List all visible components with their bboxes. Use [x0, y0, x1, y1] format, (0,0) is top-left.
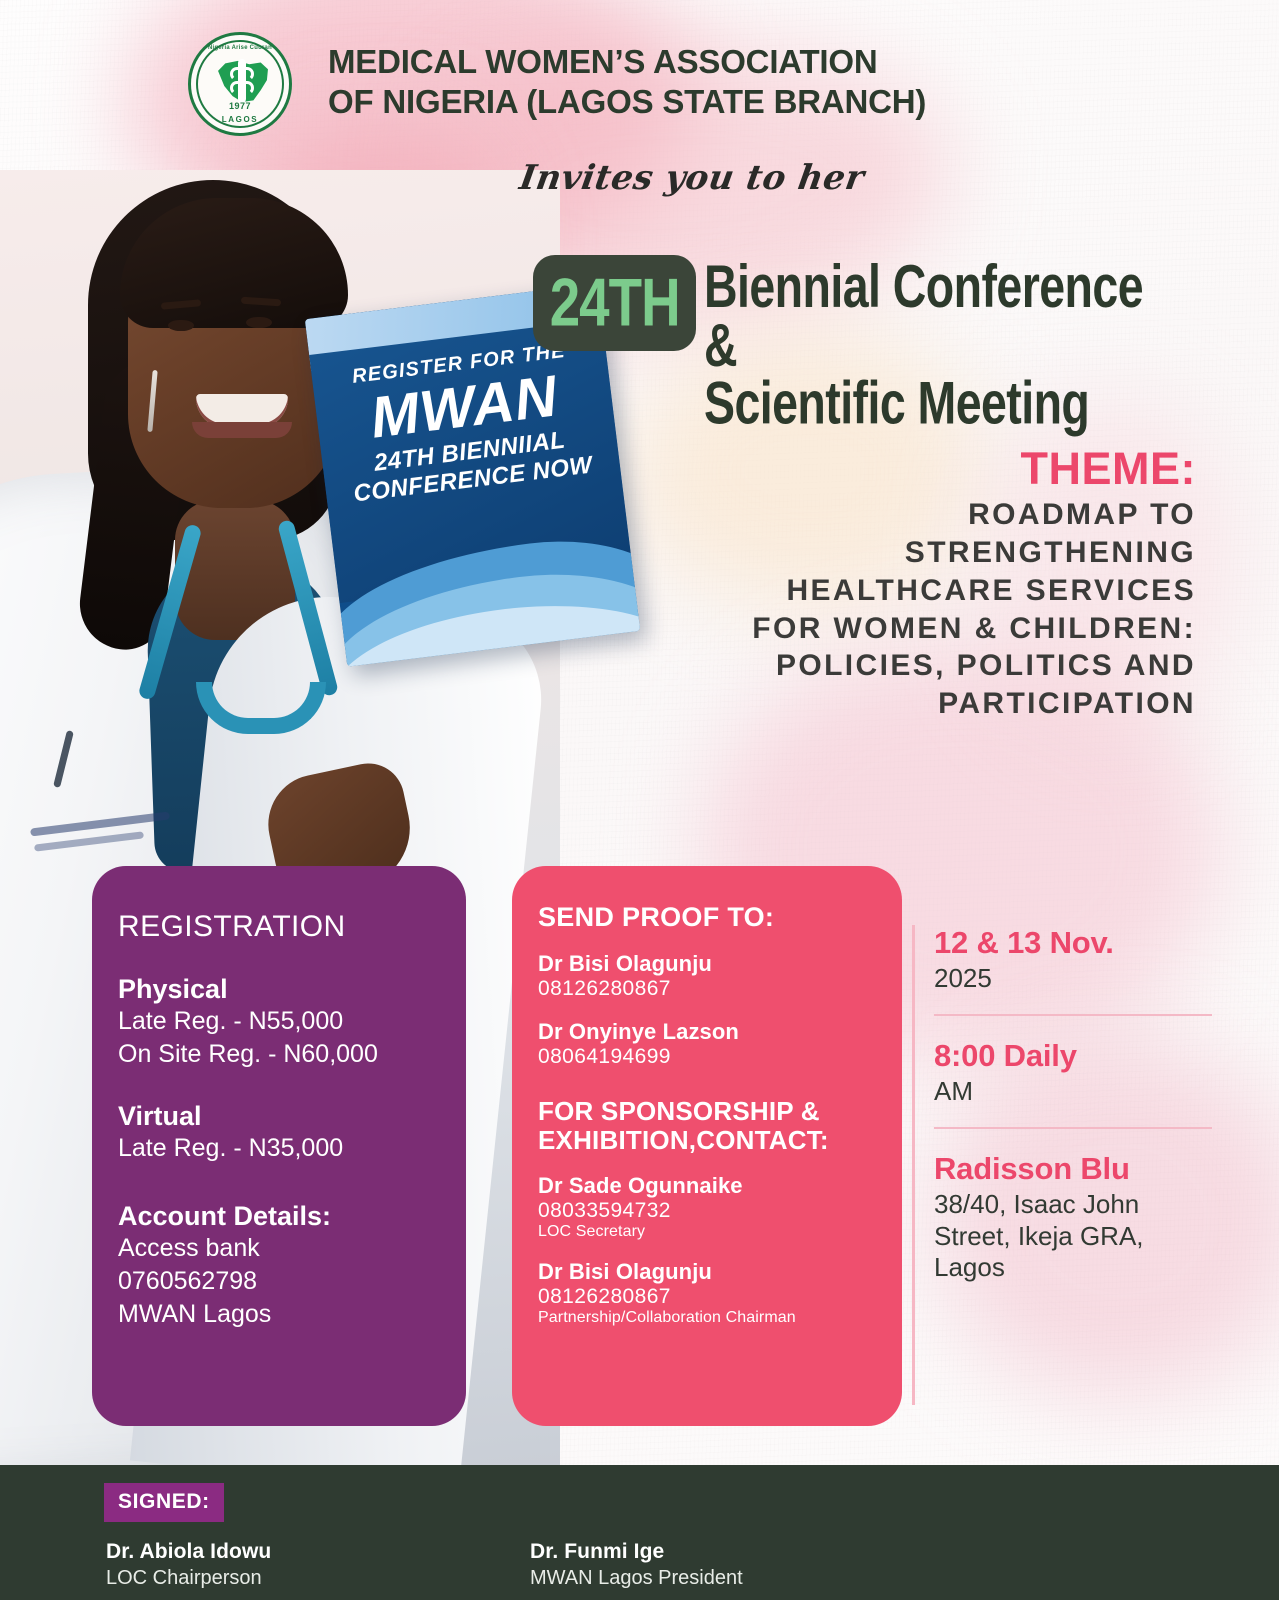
event-date: 12 & 13 Nov. 2025: [912, 925, 1212, 994]
registration-physical-late: Late Reg. - N55,000: [118, 1005, 466, 1038]
sponsorship-heading-line-2: EXHIBITION,CONTACT:: [538, 1126, 902, 1155]
contact-role: Partnership/Collaboration Chairman: [538, 1309, 902, 1327]
contact-name: Dr Bisi Olagunju: [538, 1259, 902, 1285]
divider: [934, 1127, 1212, 1129]
theme-line: STRENGTHENING: [640, 534, 1196, 572]
event-date-year: 2025: [934, 963, 1212, 994]
contact-phone[interactable]: 08064194699: [538, 1045, 902, 1069]
contact-phone[interactable]: 08033594732: [538, 1199, 902, 1223]
event-time-title: 8:00 Daily: [934, 1038, 1212, 1074]
account-name: MWAN Lagos: [118, 1298, 466, 1331]
event-venue-title: Radisson Blu: [934, 1151, 1212, 1187]
lower-lip: [192, 422, 292, 438]
organization-title-line-1: MEDICAL WOMEN’S ASSOCIATION: [328, 42, 1028, 82]
invite-line: Invites you to her: [517, 158, 867, 198]
signatory: Dr. Funmi Ige MWAN Lagos President: [530, 1540, 743, 1590]
divider: [934, 1014, 1212, 1016]
sponsorship-heading-line-1: FOR SPONSORSHIP &: [538, 1097, 902, 1126]
contact-name: Dr Onyinye Lazson: [538, 1019, 902, 1045]
registration-heading: REGISTRATION: [118, 910, 466, 944]
registration-virtual-label: Virtual: [118, 1101, 466, 1132]
registration-physical-label: Physical: [118, 974, 466, 1005]
event-time: 8:00 Daily AM: [912, 1038, 1212, 1107]
theme-label: THEME:: [640, 445, 1196, 492]
theme-line: FOR WOMEN & CHILDREN:: [640, 610, 1196, 648]
eye-right: [246, 317, 272, 328]
signed-badge: SIGNED:: [104, 1483, 224, 1522]
contact-role: LOC Secretary: [538, 1223, 902, 1241]
contact-name: Dr Sade Ogunnaike: [538, 1173, 902, 1199]
logo-year: 1977: [191, 101, 289, 111]
signatory-name: Dr. Funmi Ige: [530, 1540, 743, 1564]
theme-line: PARTICIPATION: [640, 685, 1196, 723]
conference-title-line-2: Scientific Meeting: [704, 374, 1188, 432]
registration-panel: REGISTRATION Physical Late Reg. - N55,00…: [92, 866, 466, 1426]
theme-line: ROADMAP TO: [640, 496, 1196, 534]
caduceus-icon: [230, 67, 254, 81]
organization-title: MEDICAL WOMEN’S ASSOCIATION OF NIGERIA (…: [328, 42, 1028, 123]
contacts-panel: SEND PROOF TO: Dr Bisi Olagunju 08126280…: [512, 866, 902, 1426]
send-proof-heading: SEND PROOF TO:: [538, 902, 902, 933]
mwan-logo-icon: Nigeria Arise Cuuran 1977 LAGOS: [188, 32, 292, 136]
signatory-name: Dr. Abiola Idowu: [106, 1540, 271, 1564]
conference-poster: REGISTER FOR THE MWAN 24TH BIENNIIAL CON…: [0, 0, 1279, 1600]
theme-line: POLICIES, POLITICS AND: [640, 647, 1196, 685]
caduceus-icon: [230, 81, 254, 95]
theme-text: ROADMAP TO STRENGTHENING HEALTHCARE SERV…: [640, 496, 1196, 723]
sponsorship-heading: FOR SPONSORSHIP & EXHIBITION,CONTACT:: [538, 1097, 902, 1155]
footer-bar: SIGNED: Dr. Abiola Idowu LOC Chairperson…: [0, 1465, 1279, 1600]
signatory-role: MWAN Lagos President: [530, 1567, 743, 1590]
account-bank: Access bank: [118, 1232, 466, 1265]
edition-badge-label: 24TH: [550, 264, 680, 342]
event-time-meridiem: AM: [934, 1076, 1212, 1107]
contact-phone[interactable]: 08126280867: [538, 1285, 902, 1309]
event-venue: Radisson Blu 38/40, Isaac John Street, I…: [912, 1151, 1212, 1283]
logo-arc-text: Nigeria Arise Cuuran: [193, 44, 286, 51]
logo-branch: LAGOS: [191, 115, 289, 124]
contact-phone[interactable]: 08126280867: [538, 977, 902, 1001]
theme-block: THEME: ROADMAP TO STRENGTHENING HEALTHCA…: [640, 445, 1196, 723]
registration-virtual-late: Late Reg. - N35,000: [118, 1132, 466, 1165]
contact-name: Dr Bisi Olagunju: [538, 951, 902, 977]
registration-physical-onsite: On Site Reg. - N60,000: [118, 1038, 466, 1071]
account-details-heading: Account Details:: [118, 1201, 466, 1232]
event-details: 12 & 13 Nov. 2025 8:00 Daily AM Radisson…: [912, 925, 1212, 1283]
eye-left: [168, 320, 194, 331]
conference-title: Biennial Conference & Scientific Meeting: [704, 258, 1188, 433]
edition-badge: 24TH: [533, 255, 696, 351]
conference-title-line-1: Biennial Conference &: [704, 258, 1188, 374]
theme-line: HEALTHCARE SERVICES: [640, 572, 1196, 610]
signatory: Dr. Abiola Idowu LOC Chairperson: [106, 1540, 271, 1590]
event-venue-address: 38/40, Isaac John Street, Ikeja GRA, Lag…: [934, 1189, 1212, 1283]
signatory-role: LOC Chairperson: [106, 1567, 271, 1590]
account-number: 0760562798: [118, 1265, 466, 1298]
organization-title-line-2: OF NIGERIA (LAGOS STATE BRANCH): [328, 82, 1028, 122]
event-date-title: 12 & 13 Nov.: [934, 925, 1212, 961]
